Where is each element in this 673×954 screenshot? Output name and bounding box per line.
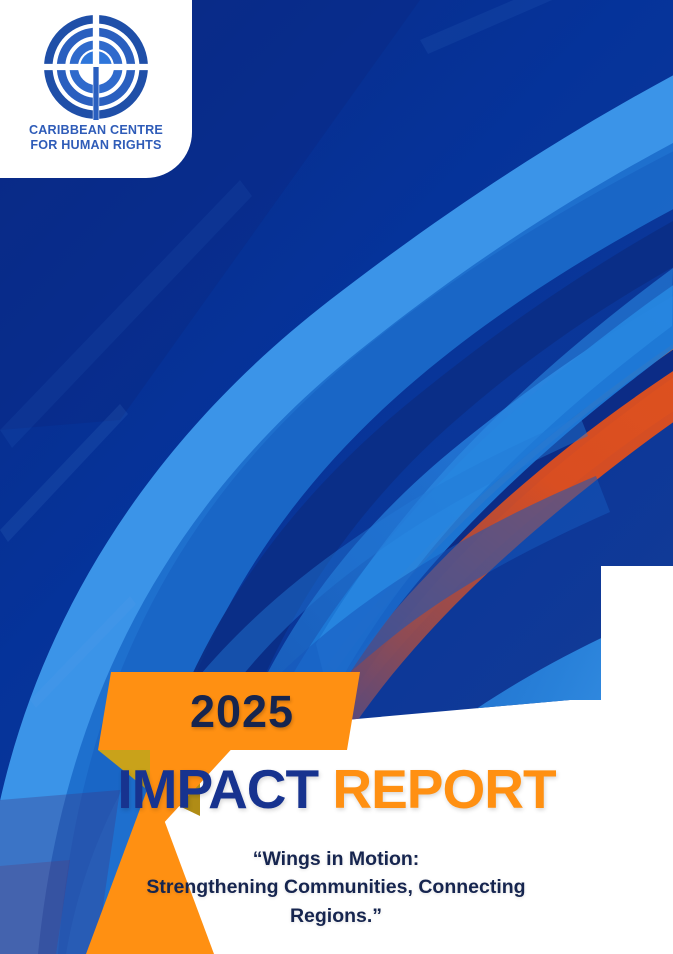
year-label: 2025 — [164, 689, 294, 734]
concentric-target-circles-icon — [43, 14, 149, 120]
tagline-line-2: Strengthening Communities, Connecting — [86, 873, 586, 901]
tagline-line-3: Regions.” — [86, 902, 586, 930]
report-cover-page: CARIBBEAN CENTRE FOR HUMAN RIGHTS 2025 I… — [0, 0, 673, 954]
year-banner: 2025 — [98, 672, 360, 750]
logo-text: CARIBBEAN CENTRE FOR HUMAN RIGHTS — [29, 123, 163, 154]
tagline: “Wings in Motion: Strengthening Communit… — [86, 845, 586, 930]
logo-line-2: FOR HUMAN RIGHTS — [29, 138, 163, 153]
logo-line-1: CARIBBEAN CENTRE — [29, 123, 163, 138]
logo-badge: CARIBBEAN CENTRE FOR HUMAN RIGHTS — [0, 0, 192, 178]
tagline-line-1: “Wings in Motion: — [86, 845, 586, 873]
